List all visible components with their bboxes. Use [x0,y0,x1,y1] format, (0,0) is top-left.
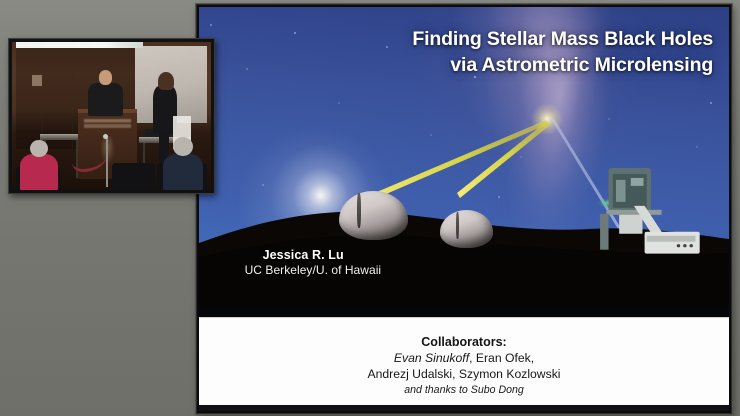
audience-member-right-head [173,137,193,156]
collaborators-line-1-rest: , Eran Ofek, [469,351,534,365]
audience-chair-middle [112,163,156,190]
presenter-podium-head [99,70,113,85]
dome-slit-middle [456,212,459,239]
collaborators-line-1: Evan Sinukoff, Eran Ofek, [394,350,534,366]
screen-capture: Jessica R. Lu UC Berkeley/U. of Hawaii F… [0,0,740,416]
collaborators-panel: Collaborators: Evan Sinukoff, Eran Ofek,… [199,317,729,411]
speaker-name: Jessica R. Lu [263,248,382,263]
slide-title-line-2: via Astrometric Microlensing [257,53,713,78]
slide-title-line-1: Finding Stellar Mass Black Holes [412,28,713,50]
collaborators-thanks: and thanks to Subo Dong [404,383,524,397]
side-table-left [40,134,80,140]
presenter-video-feed[interactable] [8,38,215,194]
collaborators-line-2: Andrezj Udalski, Szymon Kozlowski [367,366,560,382]
slide-speaker-caption: Jessica R. Lu UC Berkeley/U. of Hawaii [245,248,382,278]
presentation-slide-pane[interactable]: Jessica R. Lu UC Berkeley/U. of Hawaii F… [196,4,732,414]
collaborators-heading: Collaborators: [421,334,506,350]
presenter-right-hair [158,72,174,90]
video-feed-canvas [12,42,211,190]
video-glitch-bar [16,42,143,48]
slide-title: Finding Stellar Mass Black Holes via Ast… [257,27,713,78]
presenter-podium-body [88,83,124,116]
lecture-hall-scene [12,42,211,190]
dome-slit-left [357,193,360,229]
audience-member-left-head [30,140,48,158]
rope-stanchion-post [106,137,108,187]
wall-sign [32,75,42,87]
slide-canvas: Jessica R. Lu UC Berkeley/U. of Hawaii F… [199,7,729,411]
podium-engraved-text [84,119,132,129]
audience-member-left-body [20,154,58,190]
subaru-telescope-structure [581,162,708,282]
observatory-dome-middle [440,210,493,247]
wood-panel-2 [42,42,73,149]
slide-bottom-bar [199,405,729,411]
speaker-affiliation: UC Berkeley/U. of Hawaii [245,263,382,278]
wood-panel-1 [16,42,43,149]
rope-stanchion-finial [103,134,108,139]
collaborator-evan-sinukoff: Evan Sinukoff [394,351,469,365]
audience-member-right-body [163,154,203,190]
